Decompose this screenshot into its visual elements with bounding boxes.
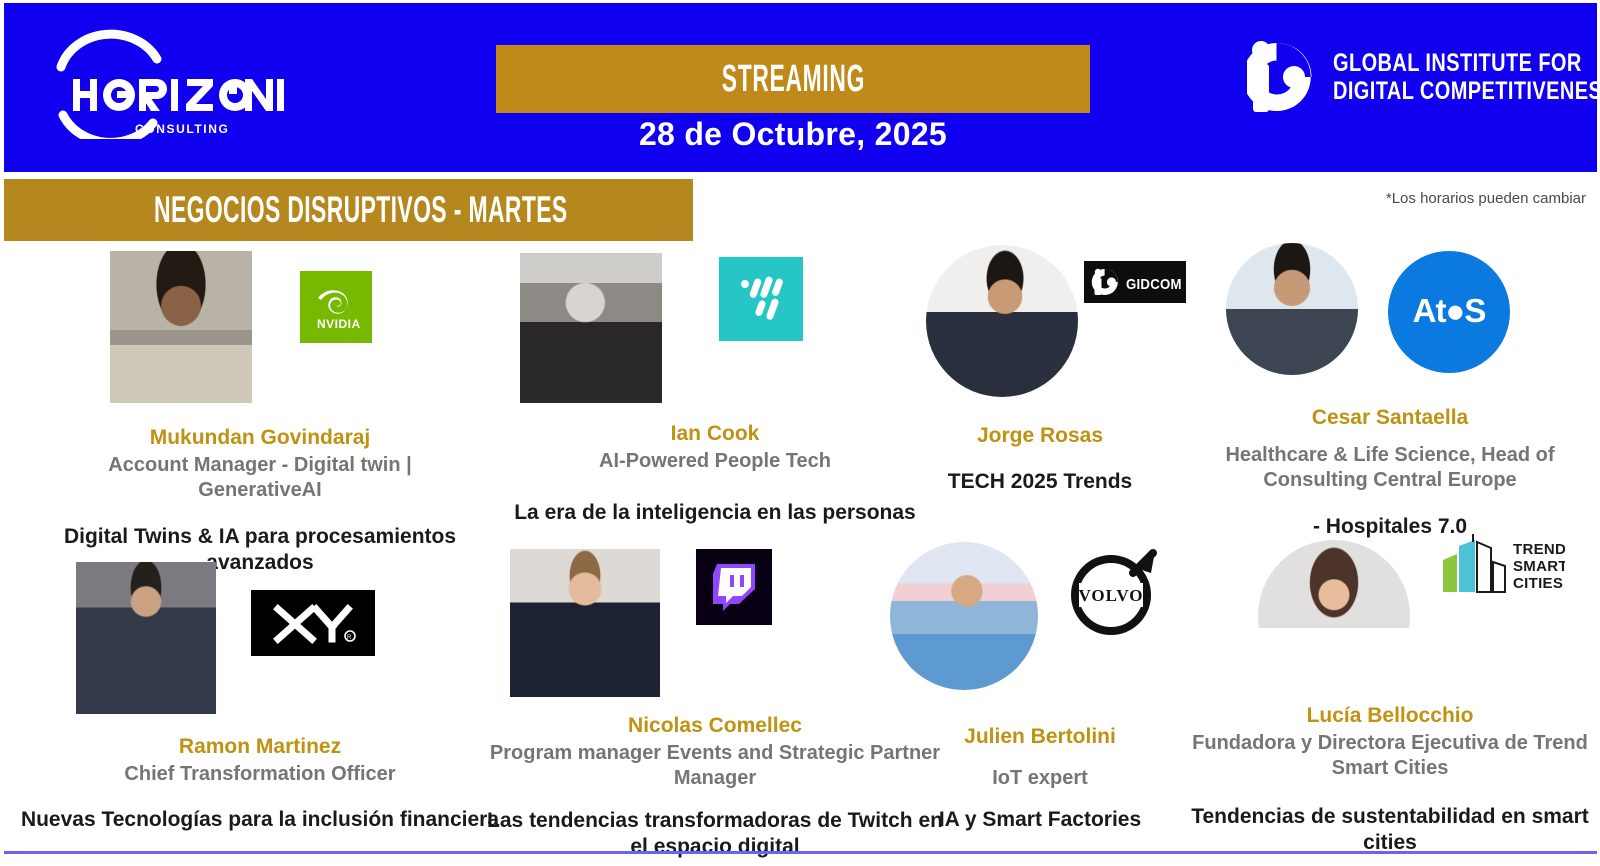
speaker-name: Ramon Martinez [20,734,500,760]
speaker-photo [520,253,662,403]
institute-line-2: DIGITAL COMPETITIVENESS [1333,77,1600,105]
speaker-card-mukundan[interactable]: NVIDIA Mukundan Govindaraj Account Manag… [0,243,520,577]
visier-logo [719,257,803,341]
speaker-card-ramon[interactable]: R Ramon Martinez Chief Transformation Of… [0,556,520,833]
speaker-role: Account Manager - Digital twin | Generat… [52,453,468,502]
speaker-text-block: Cesar Santaella Healthcare & Life Scienc… [1180,393,1600,540]
header-banner: CONSULTING STREAMING 28 de Octubre, 2025… [4,3,1597,172]
svg-text:At●S: At●S [1413,292,1486,329]
speaker-role: IoT expert [880,766,1200,790]
speaker-name: Ian Cook [494,421,936,447]
streaming-badge: STREAMING [496,45,1090,113]
nvidia-logo: NVIDIA [300,271,372,343]
speaker-text-block: Julien Bertolini IoT expert IA y Smart F… [880,710,1200,833]
speaker-name: Jorge Rosas [884,423,1196,449]
speaker-column-4: At●S Cesar Santaella Healthcare & Life S… [1180,243,1600,866]
speaker-name: Lucía Bellocchio [1186,703,1594,729]
section-title-bar: NEGOCIOS DISRUPTIVOS - MARTES [4,179,693,241]
svg-text:SMART: SMART [1513,558,1565,575]
atos-logo: At●S [1388,251,1510,373]
slide-root: CONSULTING STREAMING 28 de Octubre, 2025… [0,0,1600,866]
speaker-photo [110,251,252,403]
speaker-column-1: NVIDIA Mukundan Govindaraj Account Manag… [0,243,520,866]
trend-smart-cities-logo: TREND SMART CITIES [1438,530,1566,602]
xy-logo: R [251,590,375,656]
ib-mark-icon [1247,39,1317,115]
event-date: 28 de Octubre, 2025 [496,116,1090,153]
speaker-role: Chief Transformation Officer [20,762,500,786]
speaker-photo [926,245,1078,397]
speaker-topic: Nuevas Tecnologías para la inclusión fin… [20,807,500,833]
svg-text:R: R [347,635,352,641]
speaker-topic: IA y Smart Factories [880,807,1200,833]
speaker-name: Mukundan Govindaraj [52,425,468,451]
speaker-photo [890,542,1038,690]
gidcomp-logo: GIDCOMP [1084,261,1186,303]
speaker-topic: TECH 2025 Trends [884,469,1196,495]
speaker-column-3: GIDCOMP Jorge Rosas TECH 2025 Trends [880,243,1200,866]
speaker-photo [1226,243,1358,375]
institute-name: GLOBAL INSTITUTE FOR DIGITAL COMPETITIVE… [1333,49,1600,105]
section-title: NEGOCIOS DISRUPTIVOS - MARTES [154,189,568,231]
speaker-name: Julien Bertolini [880,724,1200,750]
speaker-role: Healthcare & Life Science, Head of Consu… [1196,443,1584,492]
speaker-card-jorge[interactable]: GIDCOMP Jorge Rosas TECH 2025 Trends [880,243,1200,496]
svg-text:CITIES: CITIES [1513,575,1563,592]
horizons-consulting-logo: CONSULTING [49,29,289,139]
speakers-grid: NVIDIA Mukundan Govindaraj Account Manag… [0,243,1600,866]
bottom-divider [4,851,1597,854]
speaker-text-block: Ramon Martinez Chief Transformation Offi… [0,722,520,833]
speaker-text-block: Lucía Bellocchio Fundadora y Directora E… [1180,693,1600,857]
speaker-topic: La era de la inteligencia en las persona… [494,500,936,526]
volvo-logo: VOLVO [1060,536,1170,646]
speaker-photo [1258,540,1410,692]
speaker-card-lucia[interactable]: TREND SMART CITIES Lucía Bellocchio Fund… [1180,528,1600,857]
global-institute-logo: GLOBAL INSTITUTE FOR DIGITAL COMPETITIVE… [1247,39,1600,115]
logo-sub-text: CONSULTING [135,122,229,136]
schedule-notice: *Los horarios pueden cambiar [1386,190,1586,207]
streaming-label: STREAMING [721,58,864,101]
speaker-photo [76,562,216,714]
speaker-name: Cesar Santaella [1196,405,1584,431]
svg-text:VOLVO: VOLVO [1078,586,1143,605]
speaker-text-block: Mukundan Govindaraj Account Manager - Di… [0,411,520,577]
svg-text:TREND: TREND [1513,541,1565,558]
svg-text:NVIDIA: NVIDIA [317,317,361,331]
speaker-card-julien[interactable]: VOLVO Julien Bertolini IoT expert IA y S… [880,536,1200,833]
speaker-card-cesar[interactable]: At●S Cesar Santaella Healthcare & Life S… [1180,243,1600,540]
speaker-role: Fundadora y Directora Ejecutiva de Trend… [1186,731,1594,780]
speaker-text-block: Jorge Rosas TECH 2025 Trends [880,409,1200,496]
twitch-logo [696,549,772,625]
speaker-topic: Tendencias de sustentabilidad en smart c… [1186,804,1594,857]
speaker-role: AI-Powered People Tech [494,449,936,473]
speaker-photo [510,549,660,697]
svg-text:GIDCOMP: GIDCOMP [1126,275,1182,292]
institute-line-1: GLOBAL INSTITUTE FOR [1333,49,1582,77]
